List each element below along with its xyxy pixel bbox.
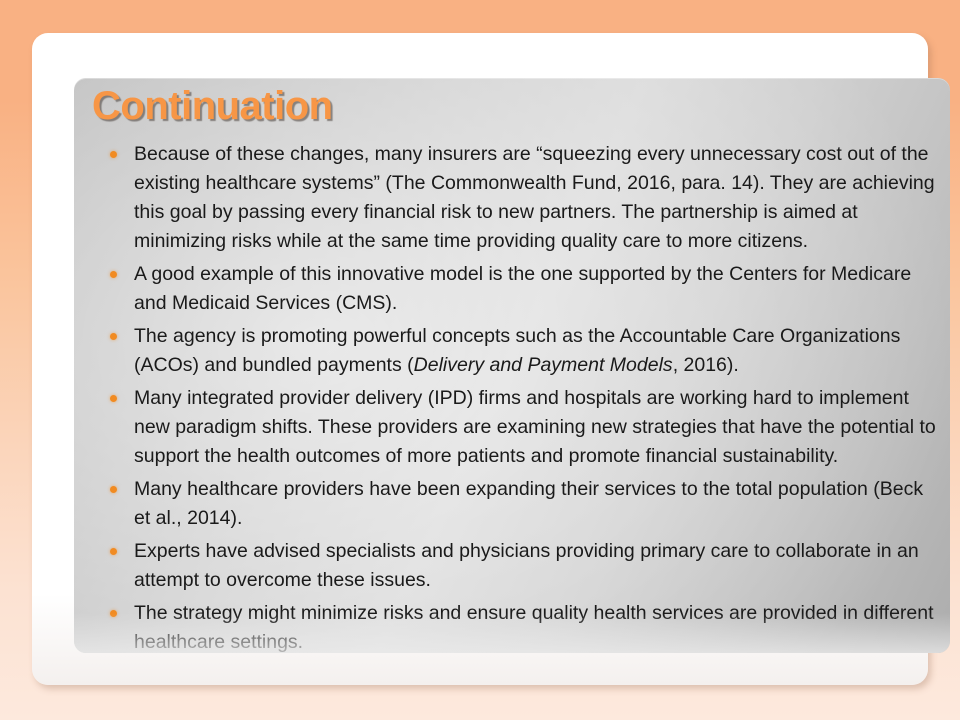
bullet-text-2: A good example of this innovative model … (134, 260, 940, 318)
bullet-dot-icon (110, 610, 117, 617)
bullet-item-1: Because of these changes, many insurers … (90, 140, 940, 256)
bullet-item-3: The agency is promoting powerful concept… (90, 322, 940, 380)
bullet-list: Because of these changes, many insurers … (90, 140, 940, 653)
bullet-text-5: Many healthcare providers have been expa… (134, 475, 940, 533)
bullet-dot-icon (110, 271, 117, 278)
slide-content-panel: Continuation Because of these changes, m… (74, 78, 950, 653)
bullet-text-3-post: , 2016). (673, 354, 739, 376)
bullet-dot-icon (110, 333, 117, 340)
bullet-text-6: Experts have advised specialists and phy… (134, 537, 940, 595)
bullet-dot-icon (110, 486, 117, 493)
bullet-text-4: Many integrated provider delivery (IPD) … (134, 384, 940, 471)
bullet-item-6: Experts have advised specialists and phy… (90, 537, 940, 595)
slide-card: Continuation Because of these changes, m… (32, 33, 928, 685)
presentation-slide: Continuation Because of these changes, m… (0, 0, 960, 720)
bullet-item-7: The strategy might minimize risks and en… (90, 599, 940, 653)
slide-title: Continuation (92, 84, 333, 129)
bullet-text-1: Because of these changes, many insurers … (134, 140, 940, 256)
bullet-dot-icon (110, 548, 117, 555)
bullet-dot-icon (110, 151, 117, 158)
bullet-item-4: Many integrated provider delivery (IPD) … (90, 384, 940, 471)
bullet-item-2: A good example of this innovative model … (90, 260, 940, 318)
bullet-text-7: The strategy might minimize risks and en… (134, 599, 940, 653)
bullet-dot-icon (110, 395, 117, 402)
bullet-item-5: Many healthcare providers have been expa… (90, 475, 940, 533)
bullet-text-3: The agency is promoting powerful concept… (134, 322, 940, 380)
bullet-text-3-italic: Delivery and Payment Models (414, 354, 673, 376)
